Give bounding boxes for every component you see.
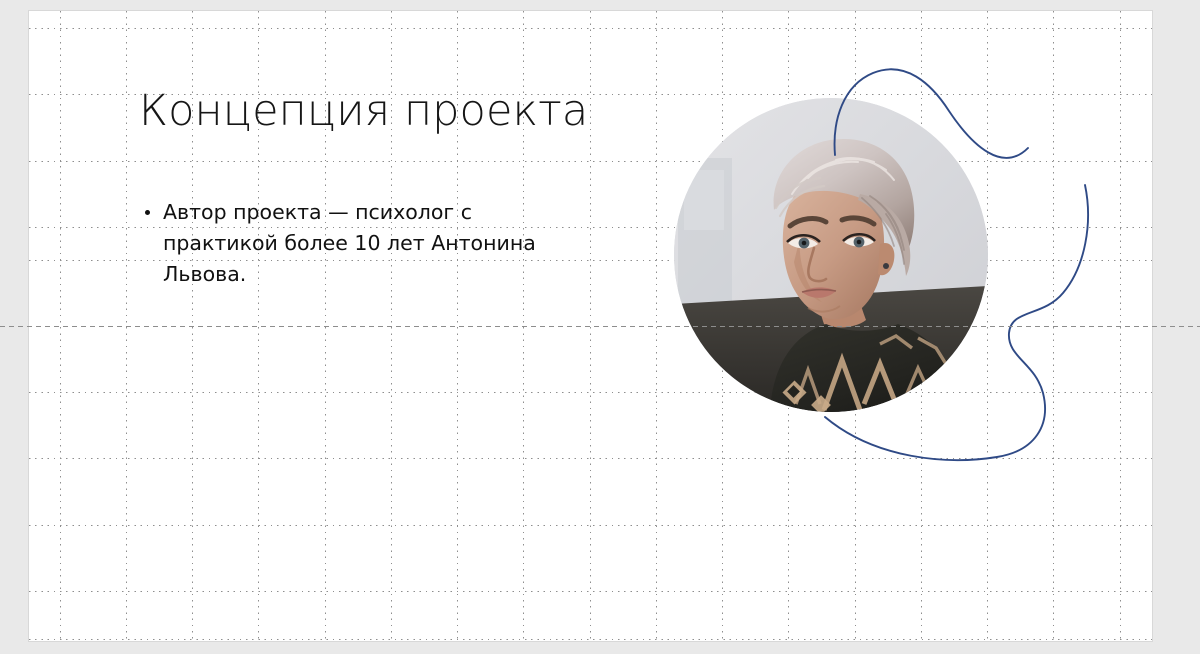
grid-vline	[60, 11, 61, 641]
grid-vline	[590, 11, 591, 641]
grid-hline	[29, 591, 1152, 592]
list-item[interactable]: Автор проекта — психолог с практикой бол…	[141, 197, 571, 290]
grid-vline	[1053, 11, 1054, 641]
grid-vline	[987, 11, 988, 641]
grid-vline	[1120, 11, 1121, 641]
grid-hline	[29, 525, 1152, 526]
portrait-photo[interactable]	[674, 98, 988, 412]
grid-hline	[29, 639, 1152, 640]
slide-canvas[interactable]: Концепция проекта Автор проекта — психол…	[29, 11, 1152, 641]
slide-title[interactable]: Концепция проекта	[139, 87, 588, 135]
grid-hline	[29, 392, 1152, 393]
grid-vline	[126, 11, 127, 641]
grid-hline	[29, 28, 1152, 29]
grid-hline	[29, 161, 1152, 162]
slide-body-list[interactable]: Автор проекта — психолог с практикой бол…	[141, 197, 571, 290]
grid-hline	[29, 458, 1152, 459]
grid-vline	[656, 11, 657, 641]
